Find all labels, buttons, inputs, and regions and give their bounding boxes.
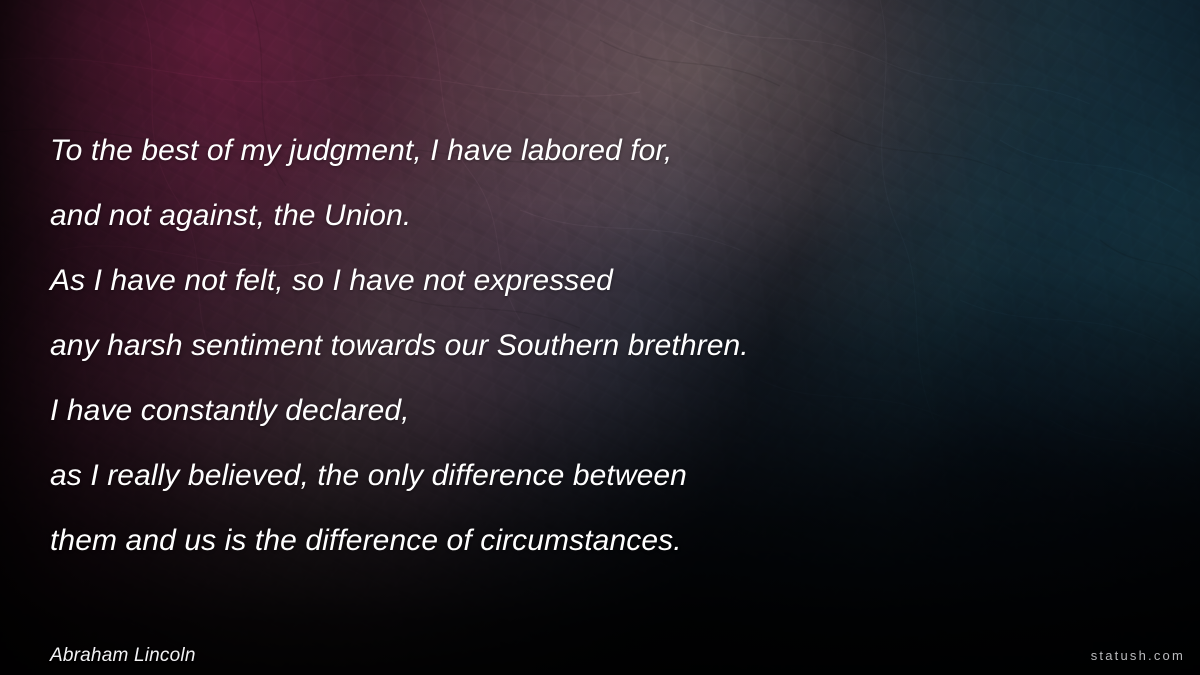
quote-line: as I really believed, the only differenc…	[50, 443, 1150, 508]
quote-author: Abraham Lincoln	[50, 645, 196, 667]
quote-line: any harsh sentiment towards our Southern…	[50, 313, 1150, 378]
quote-line: I have constantly declared,	[50, 378, 1150, 443]
quote-line: them and us is the difference of circums…	[50, 508, 1150, 573]
site-watermark: statush.com	[1091, 648, 1185, 663]
quote-text-block: To the best of my judgment, I have labor…	[50, 118, 1150, 573]
quote-card: To the best of my judgment, I have labor…	[0, 0, 1200, 675]
quote-line: To the best of my judgment, I have labor…	[50, 118, 1150, 183]
quote-line: and not against, the Union.	[50, 183, 1150, 248]
quote-line: As I have not felt, so I have not expres…	[50, 248, 1150, 313]
